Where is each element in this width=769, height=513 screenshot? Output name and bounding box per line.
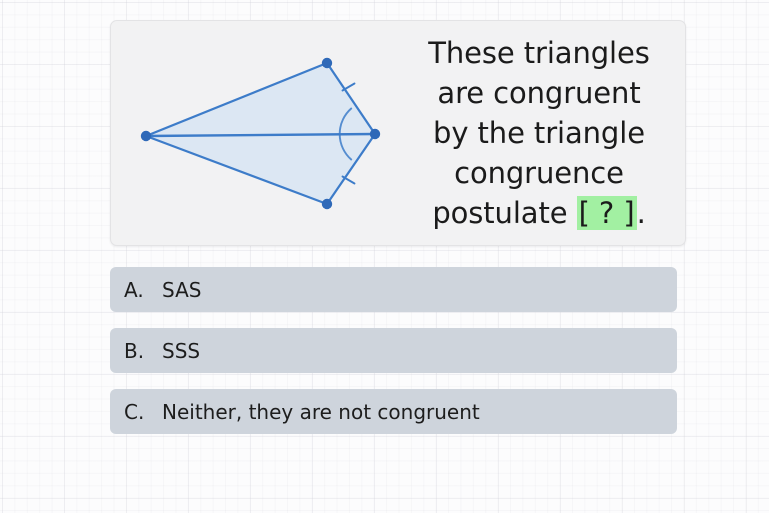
answer-option-b-label: SSS (162, 339, 677, 363)
question-line-2: are congruent (401, 73, 677, 113)
question-line-3: by the triangle (401, 113, 677, 153)
answer-option-c[interactable]: C. Neither, they are not congruent (110, 389, 677, 434)
answer-option-a-letter: A. (124, 278, 162, 302)
answer-blank[interactable]: [ ? ] (577, 196, 637, 230)
question-card: These triangles are congruent by the tri… (110, 20, 686, 246)
answer-option-c-letter: C. (124, 400, 162, 424)
answer-option-b-letter: B. (124, 339, 162, 363)
question-line-5: postulate [ ? ]. (401, 193, 677, 233)
quiz-stage: These triangles are congruent by the tri… (0, 0, 769, 513)
question-line-1: These triangles (401, 33, 677, 73)
question-line-5-suffix: . (637, 196, 646, 230)
triangle-figure-svg (111, 21, 401, 245)
vertex-right[interactable] (370, 129, 380, 139)
vertex-bottom[interactable] (322, 199, 332, 209)
question-line-4: congruence (401, 153, 677, 193)
answer-option-a[interactable]: A. SAS (110, 267, 677, 312)
vertex-left[interactable] (141, 131, 151, 141)
answer-option-c-label: Neither, they are not congruent (162, 400, 677, 424)
question-line-5-prefix: postulate (432, 196, 576, 230)
question-prompt: These triangles are congruent by the tri… (401, 33, 685, 233)
vertex-top[interactable] (322, 58, 332, 68)
triangle-figure (111, 21, 401, 245)
answer-option-b[interactable]: B. SSS (110, 328, 677, 373)
answer-option-a-label: SAS (162, 278, 677, 302)
